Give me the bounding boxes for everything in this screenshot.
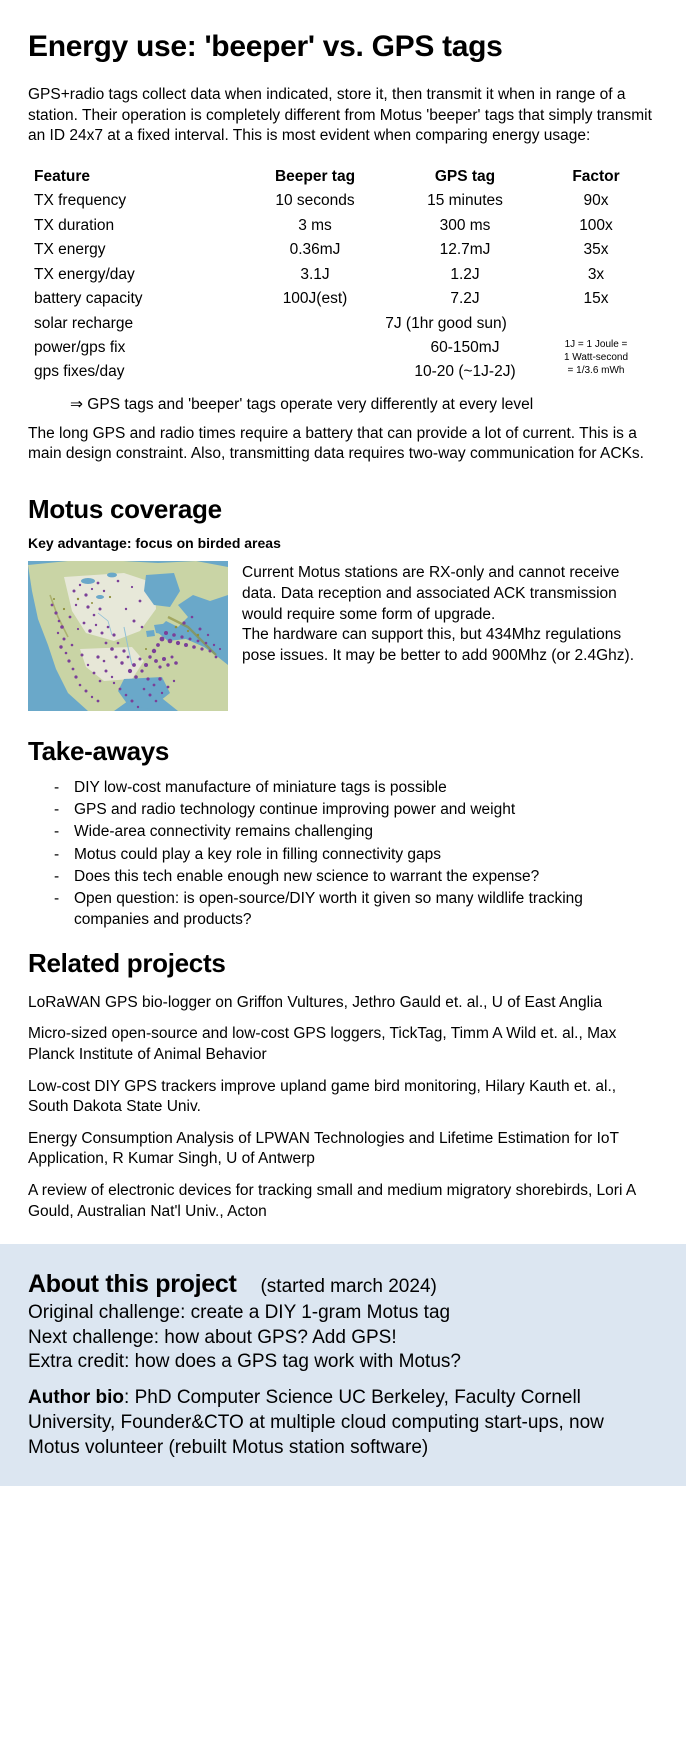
- energy-table-wrapper: Feature Beeper tag GPS tag Factor TX fre…: [34, 165, 658, 385]
- page-title: Energy use: 'beeper' vs. GPS tags: [28, 30, 658, 63]
- cell-factor: 100x: [540, 214, 652, 238]
- list-item: Open question: is open-source/DIY worth …: [52, 888, 658, 930]
- column-header-factor: Factor: [540, 165, 652, 189]
- table-row: battery capacity 100J(est) 7.2J 15x: [34, 287, 652, 311]
- cell-factor: 15x: [540, 287, 652, 311]
- cell-beeper: 100J(est): [240, 287, 390, 311]
- section-heading-motus-coverage: Motus coverage: [28, 495, 658, 525]
- cell-beeper: 10 seconds: [240, 189, 390, 213]
- list-item: Energy Consumption Analysis of LPWAN Tec…: [28, 1129, 658, 1170]
- table-row: TX energy 0.36mJ 12.7mJ 35x: [34, 238, 652, 262]
- table-row: TX frequency 10 seconds 15 minutes 90x: [34, 189, 652, 213]
- cell-beeper: 3.1J: [240, 263, 390, 287]
- column-header-feature: Feature: [34, 165, 240, 189]
- slide-page: Energy use: 'beeper' vs. GPS tags GPS+ra…: [0, 30, 686, 1486]
- table-row: TX duration 3 ms 300 ms 100x: [34, 214, 652, 238]
- cell-gps: 1.2J: [390, 263, 540, 287]
- coverage-paragraph-2: The hardware can support this, but 434Mh…: [242, 625, 658, 666]
- related-projects-list: LoRaWAN GPS bio-logger on Griffon Vultur…: [28, 993, 658, 1222]
- motus-coverage-map-image: [28, 561, 228, 711]
- list-item: Low-cost DIY GPS trackers improve upland…: [28, 1077, 658, 1118]
- joule-note: 1J = 1 Joule = 1 Watt-second = 1/3.6 mWh: [540, 336, 652, 385]
- table-row-solar-recharge: solar recharge 7J (1hr good sun): [34, 312, 652, 336]
- coverage-subheading: Key advantage: focus on birded areas: [28, 535, 658, 552]
- cell-gps: 12.7mJ: [390, 238, 540, 262]
- map-graphic-icon: [28, 561, 228, 711]
- about-line: Next challenge: how about GPS? Add GPS!: [28, 1326, 658, 1350]
- cell-gps: 7.2J: [390, 287, 540, 311]
- cell-feature: TX energy: [34, 238, 240, 262]
- section-heading-related-projects: Related projects: [28, 949, 658, 979]
- cell-feature: TX frequency: [34, 189, 240, 213]
- cell-factor: 3x: [540, 263, 652, 287]
- joule-note-line-1: 1J = 1 Joule =: [565, 339, 628, 350]
- main-content: Energy use: 'beeper' vs. GPS tags GPS+ra…: [0, 30, 686, 1222]
- author-bio-label: Author bio: [28, 1387, 124, 1408]
- list-item: LoRaWAN GPS bio-logger on Griffon Vultur…: [28, 993, 658, 1014]
- about-header: About this project (started march 2024): [28, 1270, 658, 1299]
- list-item: A review of electronic devices for track…: [28, 1181, 658, 1222]
- joule-note-line-2: 1 Watt-second: [564, 352, 628, 363]
- cell-feature: gps fixes/day: [34, 360, 240, 384]
- cell-factor: 90x: [540, 189, 652, 213]
- list-item: DIY low-cost manufacture of miniature ta…: [52, 777, 658, 798]
- cell-beeper: 3 ms: [240, 214, 390, 238]
- table-header-row: Feature Beeper tag GPS tag Factor: [34, 165, 652, 189]
- list-item: Does this tech enable enough new science…: [52, 866, 658, 887]
- cell-feature: TX duration: [34, 214, 240, 238]
- list-item: Micro-sized open-source and low-cost GPS…: [28, 1024, 658, 1065]
- list-item: Motus could play a key role in filling c…: [52, 844, 658, 865]
- cell-feature: battery capacity: [34, 287, 240, 311]
- energy-conclusion-line: ⇒ GPS tags and 'beeper' tags operate ver…: [28, 395, 658, 416]
- about-started-date: (started march 2024): [260, 1276, 436, 1298]
- table-row: TX energy/day 3.1J 1.2J 3x: [34, 263, 652, 287]
- cell-feature: TX energy/day: [34, 263, 240, 287]
- table-row-power-per-fix: power/gps fix 60-150mJ 1J = 1 Joule = 1 …: [34, 336, 652, 360]
- cell-gps: 300 ms: [390, 214, 540, 238]
- cell-factor: 35x: [540, 238, 652, 262]
- about-line: Extra credit: how does a GPS tag work wi…: [28, 1350, 658, 1374]
- about-this-project-section: About this project (started march 2024) …: [0, 1244, 686, 1486]
- cell-beeper-empty: [240, 336, 390, 360]
- cell-feature: power/gps fix: [34, 336, 240, 360]
- energy-closing-paragraph: The long GPS and radio times require a b…: [28, 424, 658, 465]
- cell-fixesday-value: 10-20 (~1J-2J): [390, 360, 540, 384]
- column-header-beeper-tag: Beeper tag: [240, 165, 390, 189]
- energy-comparison-table: Feature Beeper tag GPS tag Factor TX fre…: [34, 165, 652, 385]
- cell-beeper-empty: [240, 360, 390, 384]
- joule-note-line-3: = 1/3.6 mWh: [568, 365, 625, 376]
- coverage-paragraph-1: Current Motus stations are RX-only and c…: [242, 563, 658, 625]
- cell-feature: solar recharge: [34, 312, 240, 336]
- energy-intro-paragraph: GPS+radio tags collect data when indicat…: [28, 85, 658, 147]
- section-heading-take-aways: Take-aways: [28, 737, 658, 767]
- about-heading: About this project: [28, 1270, 236, 1299]
- cell-beeper: 0.36mJ: [240, 238, 390, 262]
- author-bio: Author bio: PhD Computer Science UC Berk…: [28, 1386, 658, 1460]
- list-item: GPS and radio technology continue improv…: [52, 799, 658, 820]
- cell-powerfix-value: 60-150mJ: [390, 336, 540, 360]
- column-header-gps-tag: GPS tag: [390, 165, 540, 189]
- cell-solar-value: 7J (1hr good sun): [240, 312, 652, 336]
- list-item: Wide-area connectivity remains challengi…: [52, 821, 658, 842]
- takeaways-list: DIY low-cost manufacture of miniature ta…: [28, 777, 658, 930]
- coverage-row: Current Motus stations are RX-only and c…: [28, 561, 658, 711]
- coverage-text-block: Current Motus stations are RX-only and c…: [242, 561, 658, 666]
- cell-gps: 15 minutes: [390, 189, 540, 213]
- about-line: Original challenge: create a DIY 1-gram …: [28, 1301, 658, 1325]
